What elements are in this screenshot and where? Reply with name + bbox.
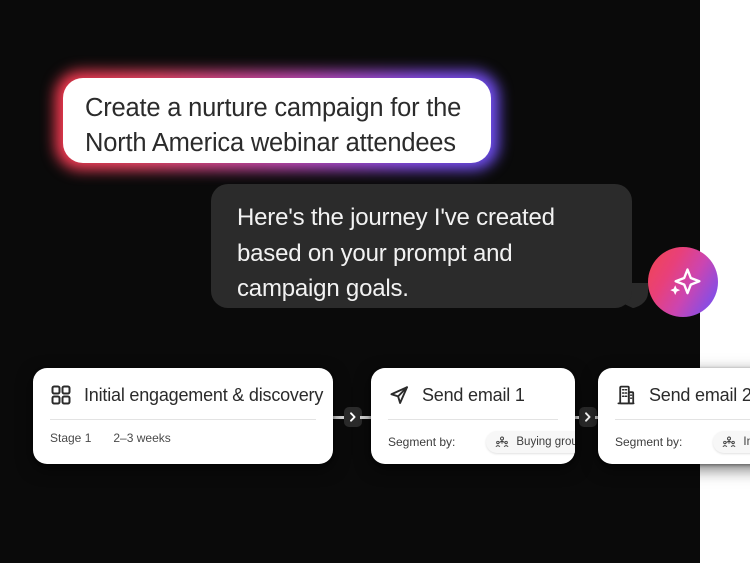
prompt-text: Create a nurture campaign for the North …: [85, 91, 469, 161]
journey-card-email-1[interactable]: Send email 1 Segment by:: [371, 368, 575, 464]
card-title: Initial engagement & discovery: [84, 385, 323, 406]
grid-icon: [50, 384, 72, 406]
card-divider: [50, 419, 316, 420]
journey-cards-row: Initial engagement & discovery Stage 1 2…: [0, 368, 750, 468]
segment-by-label: Segment by:: [615, 435, 682, 449]
card-title: Send email 2: [649, 385, 750, 406]
chip-label: Buying group: [516, 436, 575, 448]
stage-label: Stage 1: [50, 431, 91, 445]
card-header: Send email 1: [388, 380, 558, 410]
journey-card-stage[interactable]: Initial engagement & discovery Stage 1 2…: [33, 368, 333, 464]
card-header: Send email 2: [615, 380, 750, 410]
segment-chip[interactable]: Buying group: [486, 431, 575, 453]
send-icon: [388, 384, 410, 406]
journey-builder-canvas: Create a nurture campaign for the North …: [0, 0, 750, 563]
card-divider: [615, 419, 750, 420]
chip-label: Industry: [743, 436, 750, 448]
journey-connector: [575, 408, 600, 426]
segment-chip[interactable]: Industry: [713, 431, 750, 453]
segment-by-label: Segment by:: [388, 435, 455, 449]
card-divider: [388, 419, 558, 420]
card-meta: Stage 1 2–3 weeks: [50, 431, 316, 445]
response-text: Here's the journey I've created based on…: [237, 200, 606, 307]
card-title: Send email 1: [422, 385, 525, 406]
prompt-bubble-body: Create a nurture campaign for the North …: [63, 78, 491, 163]
building-icon: [615, 384, 637, 406]
people-group-icon: [722, 435, 736, 449]
card-header: Initial engagement & discovery: [50, 380, 316, 410]
user-prompt-bubble: Create a nurture campaign for the North …: [55, 71, 499, 170]
assistant-avatar-badge[interactable]: [648, 247, 718, 317]
sparkle-icon: [662, 261, 704, 303]
people-group-icon: [495, 435, 509, 449]
assistant-response-bubble: Here's the journey I've created based on…: [211, 184, 632, 308]
duration-label: 2–3 weeks: [113, 431, 170, 445]
journey-card-email-2[interactable]: Send email 2 Segment by:: [598, 368, 750, 464]
card-meta: Segment by: Buying group: [388, 431, 558, 453]
card-meta: Segment by: Industry: [615, 431, 750, 453]
journey-connector: [333, 408, 373, 426]
